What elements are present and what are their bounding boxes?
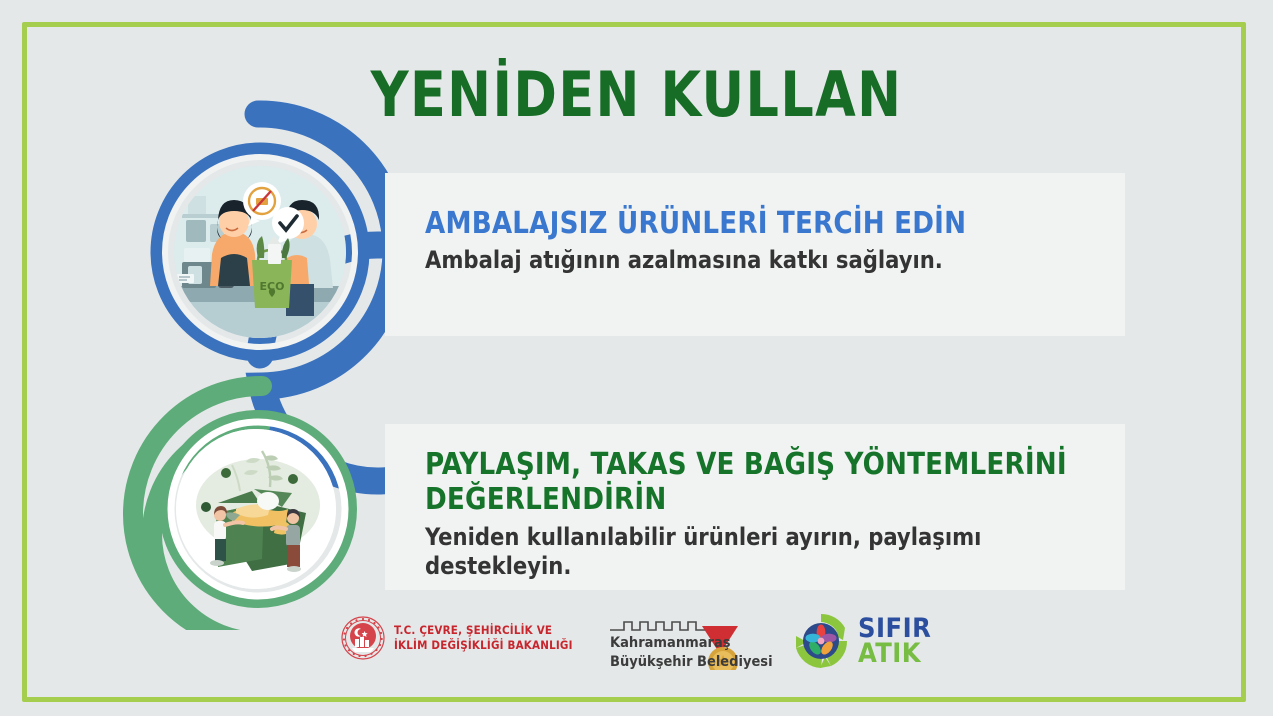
illustration-grocery-checkout: ECO (174, 166, 346, 338)
logo-kahramanmaras-municipality: Kahramanmaraş Büyükşehir Belediyesi (610, 612, 773, 672)
panel-2-body: Yeniden kullanılabilir ürünleri ayırın, … (425, 523, 1101, 582)
sifir-atik-recycle-icon (790, 610, 852, 672)
content-panel-1: AMBALAJSIZ ÜRÜNLERİ TERCİH EDİN Ambalaj … (385, 173, 1125, 336)
logo-sifir-atik: SIFIR ATIK (790, 610, 931, 672)
panel-2-heading: PAYLAŞIM, TAKAS VE BAĞIŞ YÖNTEMLERİNİ DE… (425, 447, 1094, 518)
sifir-atik-logo-text: SIFIR ATIK (858, 616, 931, 667)
content-panel-2: PAYLAŞIM, TAKAS VE BAĞIŞ YÖNTEMLERİNİ DE… (385, 424, 1125, 590)
municipality-logo-text: Kahramanmaraş Büyükşehir Belediyesi (610, 634, 773, 672)
donation-box-scene (176, 429, 336, 589)
panel-1-text: AMBALAJSIZ ÜRÜNLERİ TERCİH EDİN Ambalaj … (425, 206, 1085, 276)
panel-1-body: Ambalaj atığının azalmasına katkı sağlay… (425, 246, 1072, 275)
panel-2-text: PAYLAŞIM, TAKAS VE BAĞIŞ YÖNTEMLERİNİ DE… (425, 447, 1115, 581)
sifir-atik-line2: ATIK (858, 641, 931, 666)
ministry-seal-icon (340, 615, 386, 661)
poster-canvas: YENİDEN KULLAN (0, 0, 1273, 716)
grocery-checkout-scene: ECO (174, 166, 346, 338)
ministry-logo-text: T.C. ÇEVRE, ŞEHİRCİLİK VE İKLİM DEĞİŞİKL… (394, 623, 573, 653)
panel-1-heading: AMBALAJSIZ ÜRÜNLERİ TERCİH EDİN (425, 206, 1065, 241)
logo-row: T.C. ÇEVRE, ŞEHİRCİLİK VE İKLİM DEĞİŞİKL… (330, 604, 970, 676)
logo-ministry-of-environment: T.C. ÇEVRE, ŞEHİRCİLİK VE İKLİM DEĞİŞİKL… (340, 615, 573, 661)
illustration-donation-box (176, 429, 336, 589)
